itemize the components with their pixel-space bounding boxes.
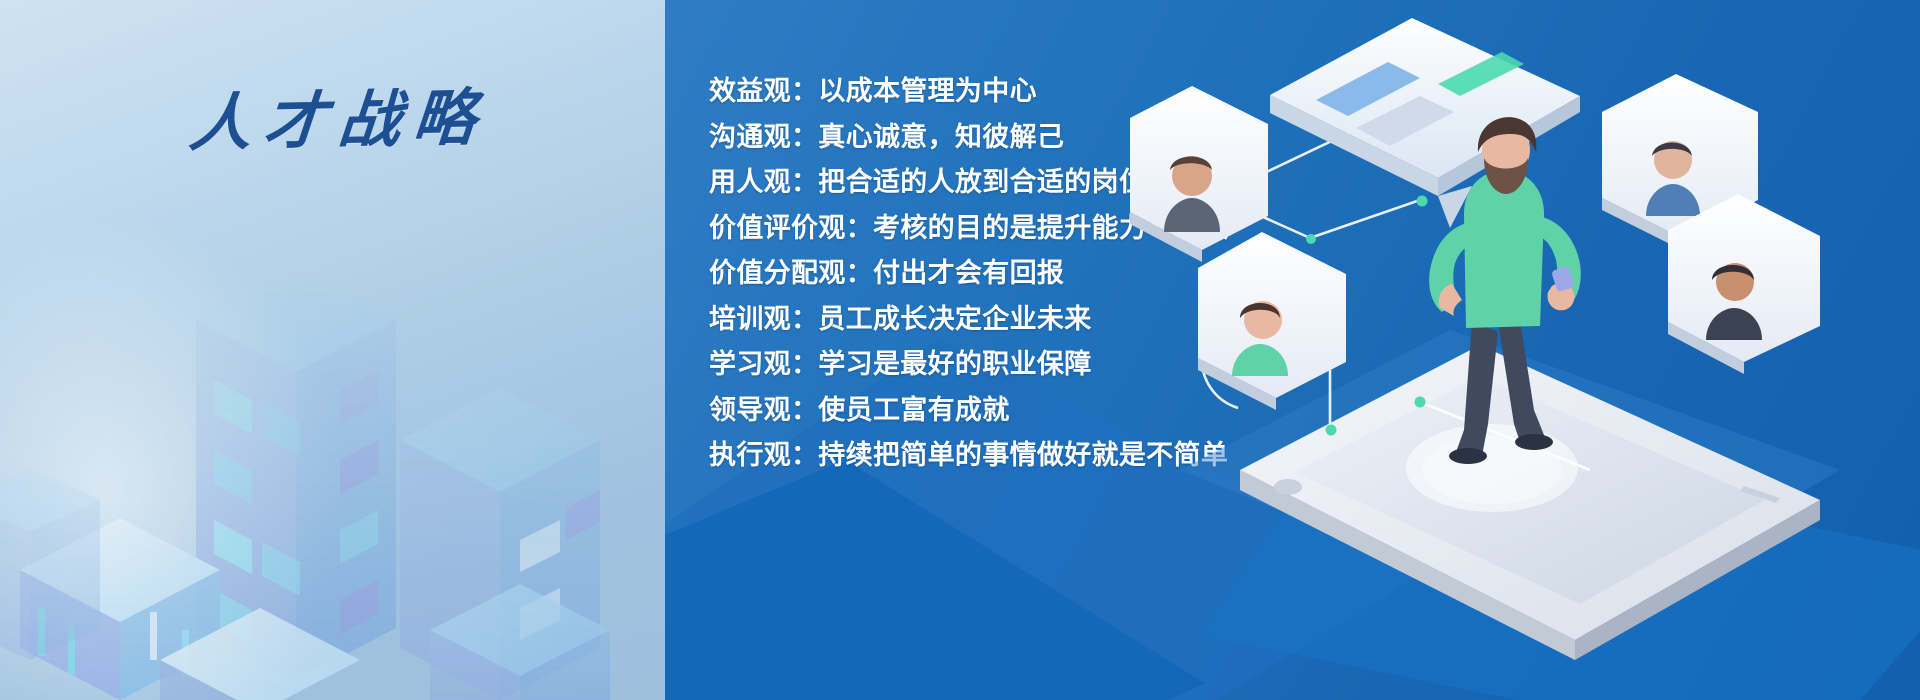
- video-call-card-top-left: [1130, 86, 1268, 262]
- slide-title-area: 人才战略: [0, 0, 665, 230]
- isometric-city-buildings: [0, 240, 665, 700]
- video-call-card-bottom-left: [1198, 232, 1346, 410]
- video-call-card-bottom-right: [1668, 194, 1820, 374]
- slide-canvas: 人才战略 效益观：以成本管理为中心 沟通观：真心诚意，知彼解己 用人观：把合适的…: [0, 0, 1920, 700]
- building-far-left: [0, 468, 100, 660]
- left-panel: 人才战略: [0, 0, 665, 700]
- isometric-video-conference-illustration: [1120, 0, 1920, 700]
- right-panel: 效益观：以成本管理为中心 沟通观：真心诚意，知彼解己 用人观：把合适的人放到合适…: [665, 0, 1920, 700]
- building-tall-center: [196, 268, 396, 680]
- slide-title: 人才战略: [173, 67, 491, 163]
